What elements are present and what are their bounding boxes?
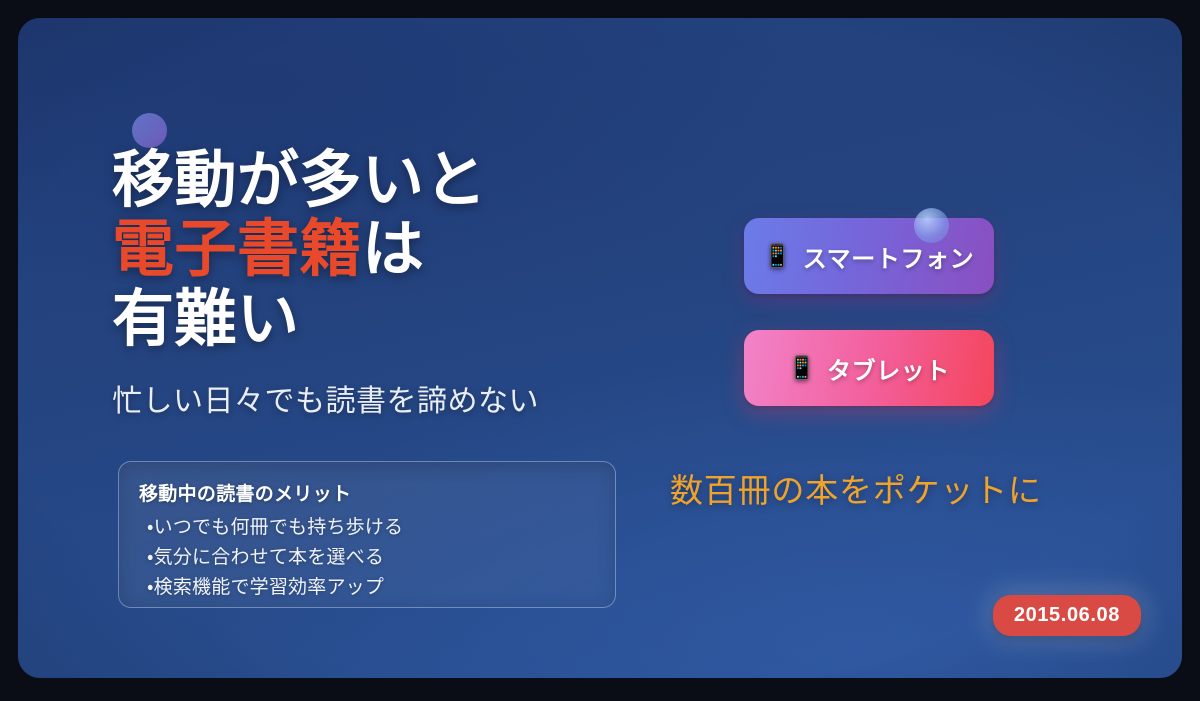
device-button-group: 📱 スマートフォン 📱 タブレット — [744, 218, 994, 406]
benefits-card-title: 移動中の読書のメリット — [139, 479, 595, 506]
mobile-phone-icon: 📱 — [764, 245, 792, 267]
slide-canvas: 移動が多いと 電子書籍は 有難い 忙しい日々でも読書を諦めない 移動中の読書のメ… — [18, 18, 1182, 678]
list-item: ・検索機能で学習効率アップ — [139, 573, 595, 603]
headline-line-3: 有難い — [112, 285, 672, 354]
list-item: ・いつでも何冊でも持ち歩ける — [139, 513, 595, 543]
tagline-text: 数百冊の本をポケットに — [670, 464, 1042, 512]
device-button-smartphone[interactable]: 📱 スマートフォン — [744, 218, 994, 294]
benefits-card: 移動中の読書のメリット ・いつでも何冊でも持ち歩ける ・気分に合わせて本を選べる… — [118, 461, 616, 608]
left-content-column: 移動が多いと 電子書籍は 有難い 忙しい日々でも読書を諦めない — [112, 146, 672, 420]
device-button-tablet-label: タブレット — [827, 351, 950, 386]
device-button-smartphone-label: スマートフォン — [803, 239, 974, 274]
headline-line-2-tail: は — [362, 215, 425, 284]
headline-line-1: 移動が多いと — [112, 146, 672, 215]
page-title: 移動が多いと 電子書籍は 有難い — [112, 146, 672, 354]
page-subtitle: 忙しい日々でも読書を諦めない — [112, 376, 672, 420]
date-badge: 2015.06.08 — [993, 595, 1141, 636]
tablet-icon: 📱 — [788, 357, 816, 379]
decorative-circle-headline — [132, 113, 167, 148]
device-button-tablet[interactable]: 📱 タブレット — [744, 330, 994, 406]
benefits-list: ・いつでも何冊でも持ち歩ける ・気分に合わせて本を選べる ・検索機能で学習効率ア… — [139, 513, 595, 603]
headline-accent-text: 電子書籍 — [112, 215, 362, 284]
list-item: ・気分に合わせて本を選べる — [139, 543, 595, 573]
headline-line-2: 電子書籍は — [112, 215, 672, 284]
